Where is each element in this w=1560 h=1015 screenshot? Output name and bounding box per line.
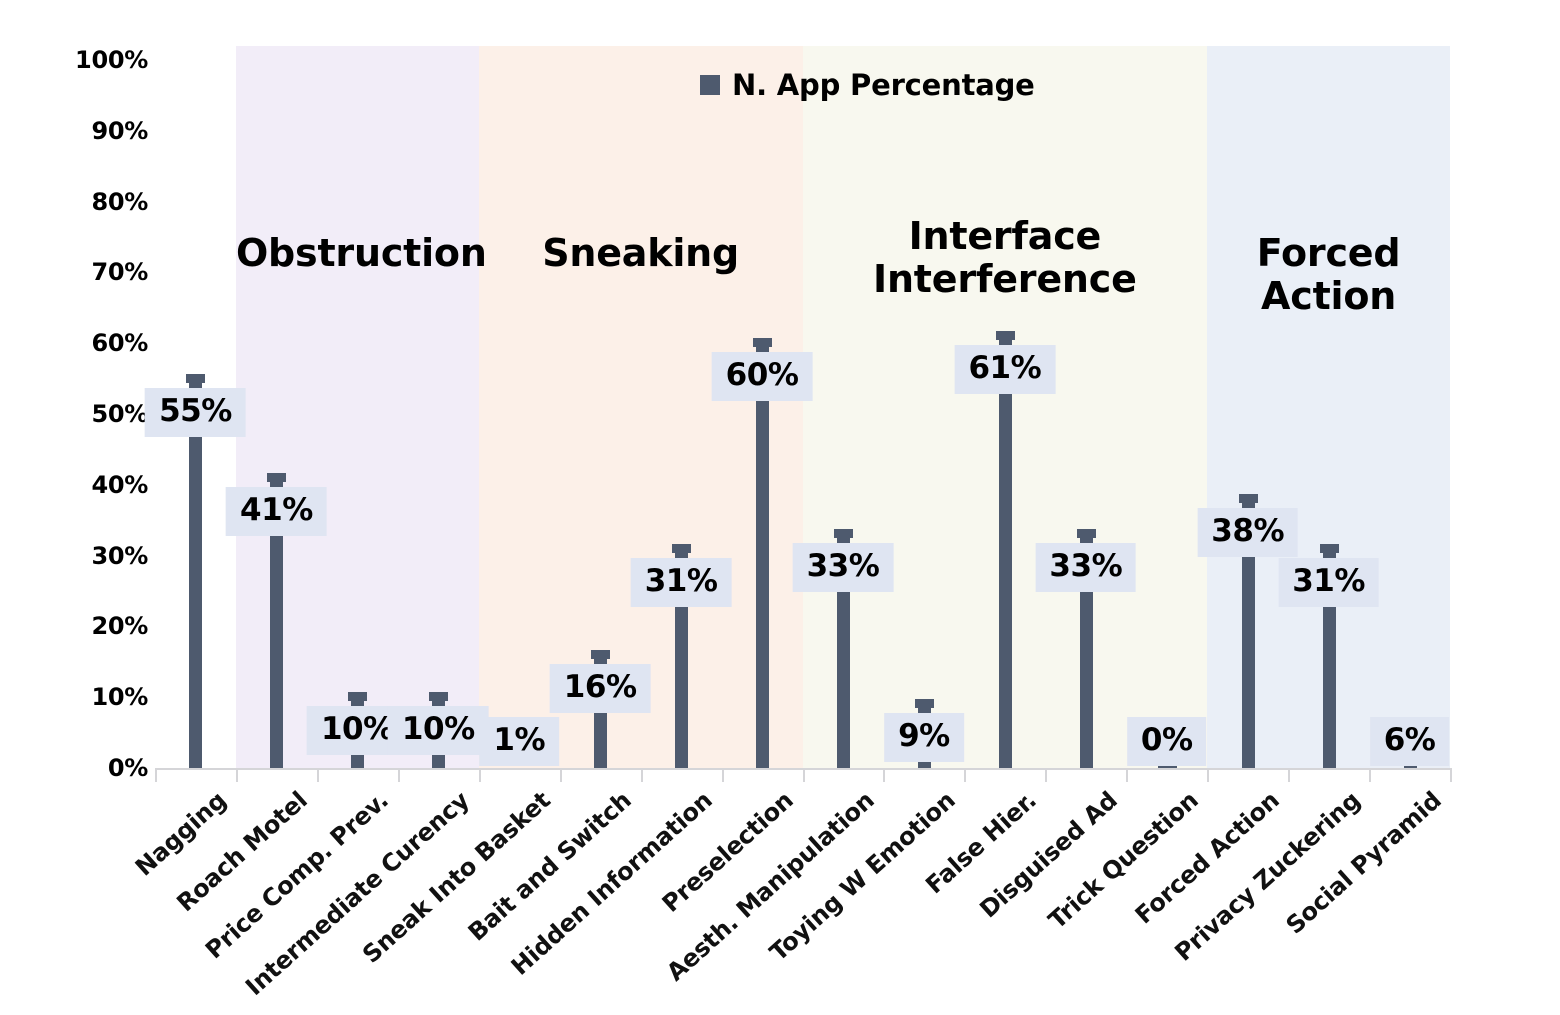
legend: N. App Percentage — [700, 68, 1035, 102]
bar-cap — [672, 544, 691, 553]
y-axis-tick-20: 20% — [28, 612, 148, 640]
x-axis-label-trick-question: Trick Question — [1043, 786, 1204, 935]
y-axis-tick-40: 40% — [28, 471, 148, 499]
bar-value-label: 31% — [631, 558, 732, 607]
bar-value-label: 33% — [1035, 543, 1136, 592]
bar-value-label: 1% — [479, 717, 559, 766]
bar-stem — [999, 336, 1012, 768]
legend-label: N. App Percentage — [732, 68, 1035, 102]
x-axis-tick — [236, 768, 238, 782]
y-axis-tick-100: 100% — [28, 46, 148, 74]
bar-stem — [189, 379, 202, 768]
bar-value-label: 38% — [1197, 508, 1298, 557]
bar-cap — [591, 650, 610, 659]
bar-cap — [1077, 529, 1096, 538]
bar-value-label: 61% — [954, 345, 1055, 394]
x-axis-tick — [1450, 768, 1452, 782]
bar-cap — [1320, 544, 1339, 553]
group-title-sneaking: Sneaking — [479, 232, 803, 275]
bar-value-label: 55% — [145, 388, 246, 437]
group-title-interface-interference: Interface Interference — [803, 215, 1208, 300]
group-title-obstruction: Obstruction — [236, 232, 479, 275]
y-axis-tick-90: 90% — [28, 117, 148, 145]
bar-cap — [267, 473, 286, 482]
x-axis-tick — [155, 768, 157, 782]
y-axis-tick-70: 70% — [28, 258, 148, 286]
group-title-forced-action: Forced Action — [1207, 232, 1450, 317]
bar-cap — [753, 338, 772, 347]
x-axis-tick — [722, 768, 724, 782]
x-axis-tick — [1126, 768, 1128, 782]
y-axis-tick-30: 30% — [28, 542, 148, 570]
x-axis-tick — [317, 768, 319, 782]
bar-value-label: 9% — [884, 713, 964, 762]
bar-cap — [429, 692, 448, 701]
x-axis-tick — [1369, 768, 1371, 782]
y-axis-tick-60: 60% — [28, 329, 148, 357]
bar-cap — [834, 529, 853, 538]
bar-cap — [1239, 494, 1258, 503]
bar-value-label: 16% — [550, 664, 651, 713]
bar-value-label: 31% — [1278, 558, 1379, 607]
chart-container: ObstructionSneakingInterface Interferenc… — [0, 0, 1560, 1015]
y-axis-tick-50: 50% — [28, 400, 148, 428]
x-axis-tick — [1288, 768, 1290, 782]
x-axis-tick — [560, 768, 562, 782]
bar-value-label: 41% — [226, 487, 327, 536]
bar-cap — [996, 331, 1015, 340]
x-axis-tick — [479, 768, 481, 782]
y-axis-tick-80: 80% — [28, 188, 148, 216]
x-axis-tick — [964, 768, 966, 782]
x-axis-tick — [641, 768, 643, 782]
bar-stem — [756, 343, 769, 768]
x-axis-label-forced-action: Forced Action — [1129, 786, 1284, 929]
legend-swatch-icon — [700, 75, 720, 95]
bar-value-label: 60% — [712, 352, 813, 401]
bar-cap — [915, 699, 934, 708]
x-axis-tick — [398, 768, 400, 782]
x-axis-tick — [803, 768, 805, 782]
bar-cap — [186, 374, 205, 383]
y-axis-tick-0: 0% — [28, 754, 148, 782]
bar-value-label: 10% — [388, 706, 489, 755]
x-axis-tick — [1207, 768, 1209, 782]
group-band-sneaking — [479, 46, 803, 768]
x-axis-label-disguised-ad: Disguised Ad — [974, 786, 1122, 923]
x-axis-tick — [1045, 768, 1047, 782]
bar-value-label: 0% — [1127, 717, 1207, 766]
y-axis-tick-10: 10% — [28, 683, 148, 711]
bar-value-label: 33% — [793, 543, 894, 592]
bar-cap — [348, 692, 367, 701]
x-axis-tick — [883, 768, 885, 782]
bar-value-label: 6% — [1370, 717, 1450, 766]
